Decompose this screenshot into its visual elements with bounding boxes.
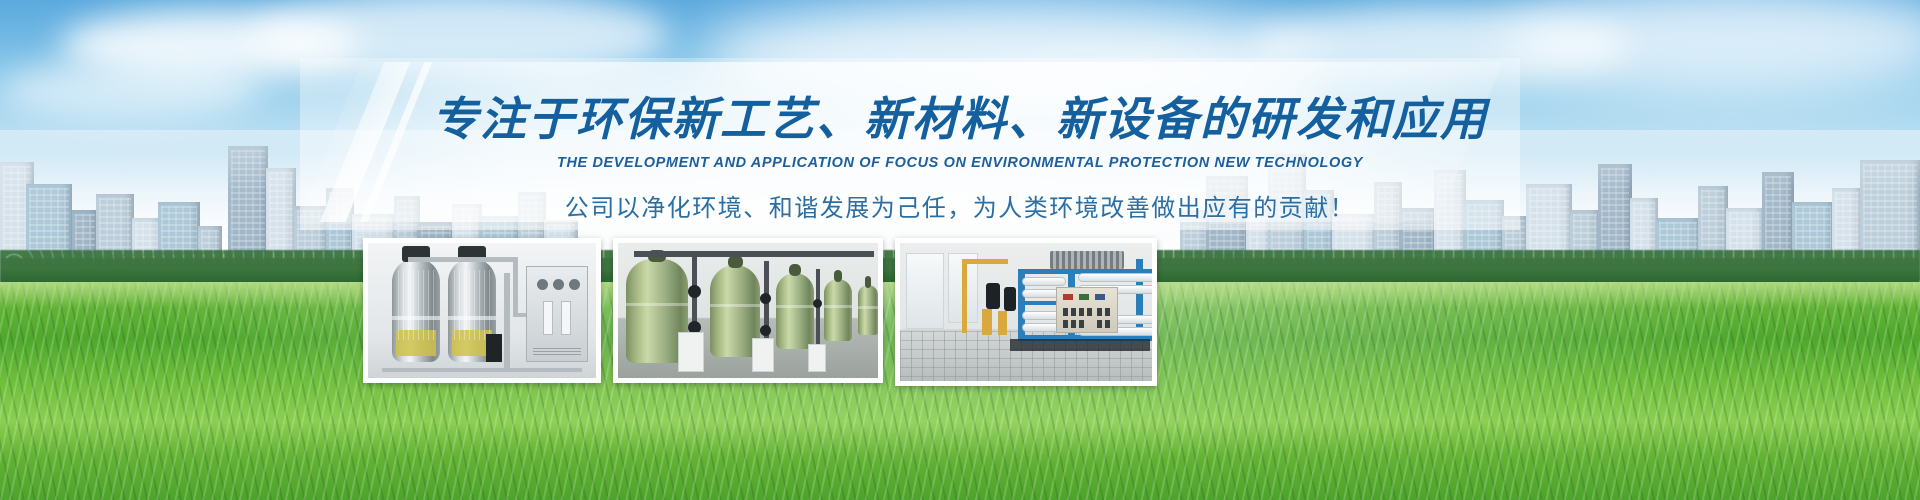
photo-stainless-tanks[interactable]	[363, 238, 601, 383]
banner-headline: 专注于环保新工艺、新材料、新设备的研发和应用	[0, 96, 1920, 142]
photo-frp-vessels[interactable]	[613, 238, 883, 383]
banner-subline-english: THE DEVELOPMENT AND APPLICATION OF FOCUS…	[0, 155, 1920, 171]
photo-ro-system[interactable]	[895, 238, 1157, 386]
hero-banner: 专注于环保新工艺、新材料、新设备的研发和应用 THE DEVELOPMENT A…	[0, 0, 1920, 500]
banner-tagline: 公司以净化环境、和谐发展为己任，为人类环境改善做出应有的贡献！	[0, 188, 1920, 223]
product-photo-strip	[363, 238, 1157, 386]
banner-text-block: 专注于环保新工艺、新材料、新设备的研发和应用 THE DEVELOPMENT A…	[0, 96, 1920, 223]
